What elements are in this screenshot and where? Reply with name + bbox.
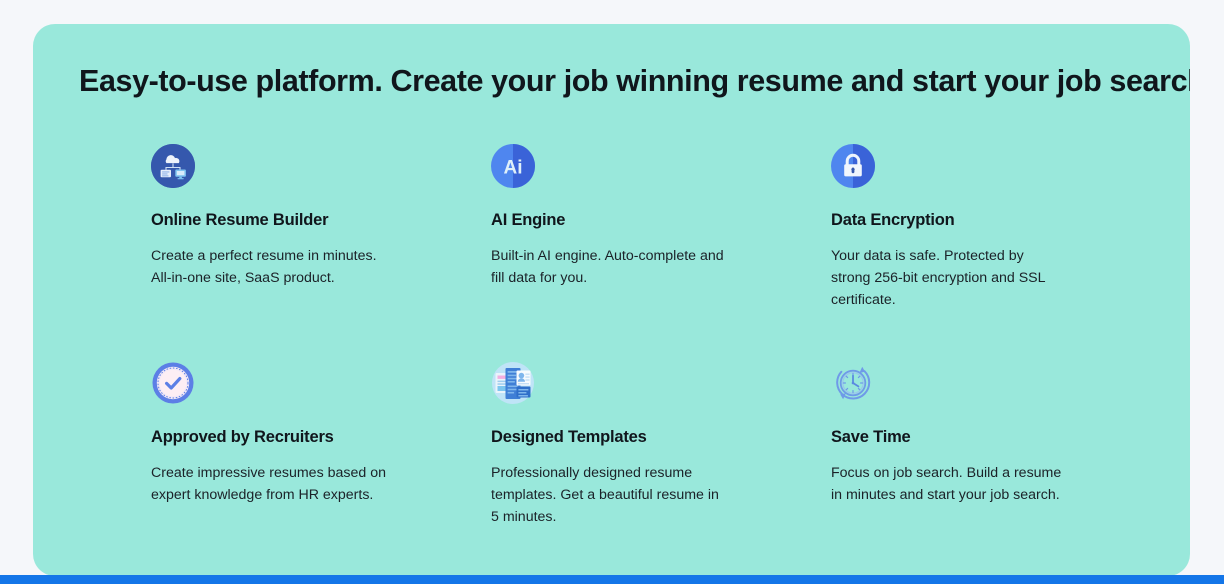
feature-description: Create a perfect resume in minutes. All-… xyxy=(151,245,396,289)
feature-description: Create impressive resumes based on exper… xyxy=(151,462,396,506)
ai-icon-label: Ai xyxy=(504,158,523,179)
feature-item-approved-by-recruiters: Approved by Recruiters Create impressive… xyxy=(151,361,451,528)
feature-title: Designed Templates xyxy=(491,428,791,448)
resume-templates-icon xyxy=(491,361,535,405)
feature-item-data-encryption: Data Encryption Your data is safe. Prote… xyxy=(831,144,1131,311)
ai-engine-icon: Ai xyxy=(491,144,535,188)
feature-description: Focus on job search. Build a resume in m… xyxy=(831,462,1066,506)
features-card: Easy-to-use platform. Create your job wi… xyxy=(33,24,1190,576)
clock-refresh-icon xyxy=(831,361,875,405)
feature-title: Online Resume Builder xyxy=(151,211,451,231)
feature-item-ai-engine: Ai AI Engine Built-in AI engine. Auto-co… xyxy=(491,144,791,311)
feature-title: AI Engine xyxy=(491,211,791,231)
feature-item-save-time: Save Time Focus on job search. Build a r… xyxy=(831,361,1131,528)
feature-item-online-resume-builder: Online Resume Builder Create a perfect r… xyxy=(151,144,451,311)
bottom-accent-bar xyxy=(0,575,1224,584)
feature-grid: Online Resume Builder Create a perfect r… xyxy=(33,144,1190,528)
feature-title: Approved by Recruiters xyxy=(151,428,451,448)
padlock-icon xyxy=(831,144,875,188)
feature-title: Data Encryption xyxy=(831,211,1131,231)
cloud-network-icon xyxy=(151,144,195,188)
verified-badge-icon xyxy=(151,361,195,405)
feature-item-designed-templates: Designed Templates Professionally design… xyxy=(491,361,791,528)
feature-title: Save Time xyxy=(831,428,1131,448)
feature-description: Professionally designed resume templates… xyxy=(491,462,726,528)
page-title: Easy-to-use platform. Create your job wi… xyxy=(33,62,1190,100)
feature-description: Built-in AI engine. Auto-complete and fi… xyxy=(491,245,736,289)
feature-description: Your data is safe. Protected by strong 2… xyxy=(831,245,1066,311)
